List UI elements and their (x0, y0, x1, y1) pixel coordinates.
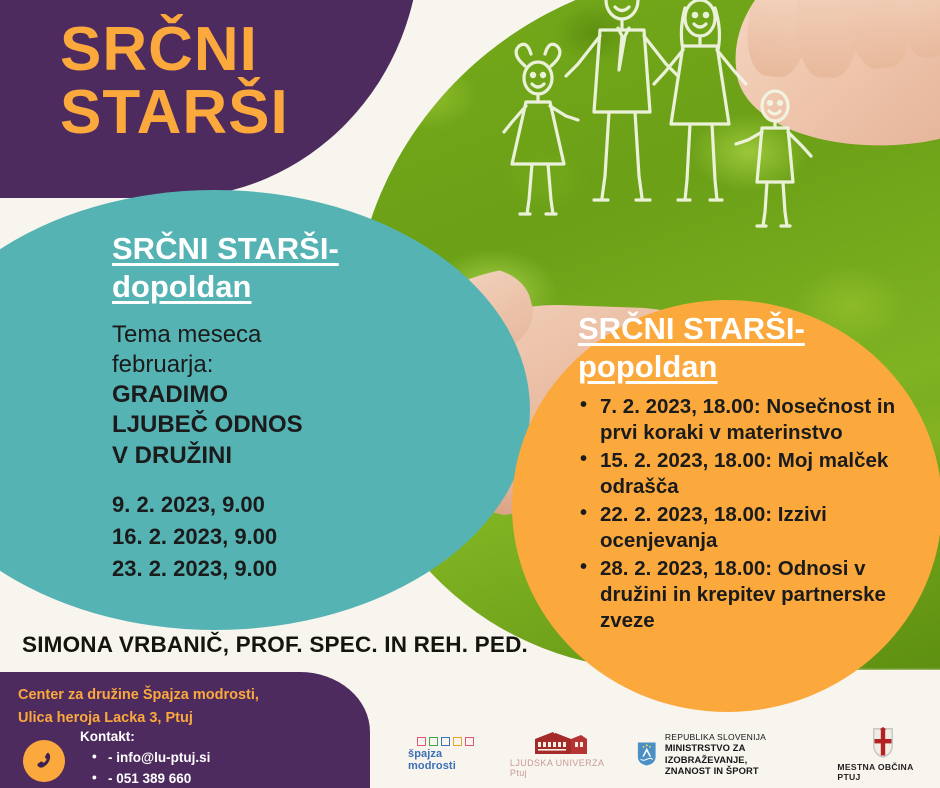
morning-topic: GRADIMO LJUBEČ ODNOS V DRUŽINI (112, 380, 442, 471)
logo-ministrstvo: REPUBLIKA SLOVENIJA MINISTRSTVO ZA IZOBR… (637, 732, 811, 777)
list-item: 7. 2. 2023, 18.00: Nosečnost in prvi kor… (578, 394, 908, 446)
phone-handset-glyph (33, 750, 55, 772)
logo-ministrstvo-text: REPUBLIKA SLOVENIJA MINISTRSTVO ZA IZOBR… (665, 732, 812, 777)
morning-heading-line-2: dopoldan (112, 268, 442, 306)
afternoon-session-list: 7. 2. 2023, 18.00: Nosečnost in prvi kor… (578, 394, 908, 634)
logo-ljudska-univerza: LJUDSKA UNIVERZA Ptuj (510, 730, 611, 778)
morning-dates: 9. 2. 2023, 9.00 16. 2. 2023, 9.00 23. 2… (112, 489, 442, 585)
morning-date: 9. 2. 2023, 9.00 (112, 489, 442, 521)
list-item: 22. 2. 2023, 18.00: Izzivi ocenjevanja (578, 502, 908, 554)
logo-mestna-obcina-ptuj: MESTNA OBČINA PTUJ (837, 727, 928, 782)
contact-email[interactable]: - info@lu-ptuj.si (92, 748, 210, 769)
presenter-name: SIMONA VRBANIČ, PROF. SPEC. IN REH. PED. (22, 632, 528, 658)
logo-lu-label: LJUDSKA UNIVERZA Ptuj (510, 758, 611, 778)
sponsor-logos: špajza modrosti LJUDSKA U (408, 726, 928, 782)
contact-phone[interactable]: - 051 389 660 (92, 769, 210, 788)
contact-list: - info@lu-ptuj.si - 051 389 660 (92, 748, 210, 788)
page-title: SRČNI STARŠI (60, 18, 289, 144)
morning-session-content: SRČNI STARŠI- dopoldan Tema meseca febru… (112, 230, 442, 584)
morning-date: 16. 2. 2023, 9.00 (112, 521, 442, 553)
afternoon-heading-line-1: SRČNI STARŠI- (578, 310, 908, 348)
slovenia-coat-of-arms-icon (637, 740, 656, 768)
address-line-1: Center za družine Špajza modrosti, (18, 684, 259, 707)
poster-canvas: SRČNI STARŠI SRČNI STARŠI- dopoldan Tema… (0, 0, 940, 788)
title-line-1: SRČNI (60, 18, 289, 81)
contact-label: Kontakt: (80, 727, 210, 748)
morning-topic-line-1: GRADIMO (112, 380, 442, 410)
hand-top (724, 0, 940, 161)
logo-spajza-modrosti: špajza modrosti (408, 737, 484, 772)
afternoon-session-content: SRČNI STARŠI- popoldan 7. 2. 2023, 18.00… (578, 310, 908, 636)
phone-icon (23, 740, 65, 782)
list-item: 15. 2. 2023, 18.00: Moj malček odrašča (578, 448, 908, 500)
spajza-squares-icon (417, 737, 474, 746)
morning-date: 23. 2. 2023, 9.00 (112, 553, 442, 585)
ministrstvo-line-3: ZNANOST IN ŠPORT (665, 765, 812, 776)
title-line-2: STARŠI (60, 81, 289, 144)
morning-heading: SRČNI STARŠI- dopoldan (112, 230, 442, 306)
footer-address: Center za družine Špajza modrosti, Ulica… (18, 684, 259, 730)
footer-contact: Kontakt: - info@lu-ptuj.si - 051 389 660 (80, 727, 210, 788)
ptuj-shield-icon (869, 727, 897, 759)
morning-topic-line-3: V DRUŽINI (112, 441, 442, 471)
ministrstvo-line-1: REPUBLIKA SLOVENIJA (665, 732, 812, 742)
morning-intro-line-2: februarja: (112, 350, 442, 380)
logo-spajza-label: špajza modrosti (408, 748, 484, 772)
afternoon-heading: SRČNI STARŠI- popoldan (578, 310, 908, 386)
building-icon (533, 730, 589, 756)
morning-intro: Tema meseca februarja: (112, 320, 442, 380)
logo-ptuj-label: MESTNA OBČINA PTUJ (837, 762, 928, 782)
list-item: 28. 2. 2023, 18.00: Odnosi v družini in … (578, 556, 908, 634)
morning-topic-line-2: LJUBEČ ODNOS (112, 410, 442, 440)
ministrstvo-line-2: MINISTRSTVO ZA IZOBRAŽEVANJE, (665, 742, 812, 765)
morning-intro-line-1: Tema meseca (112, 320, 442, 350)
afternoon-heading-line-2: popoldan (578, 348, 908, 386)
morning-heading-line-1: SRČNI STARŠI- (112, 230, 442, 268)
